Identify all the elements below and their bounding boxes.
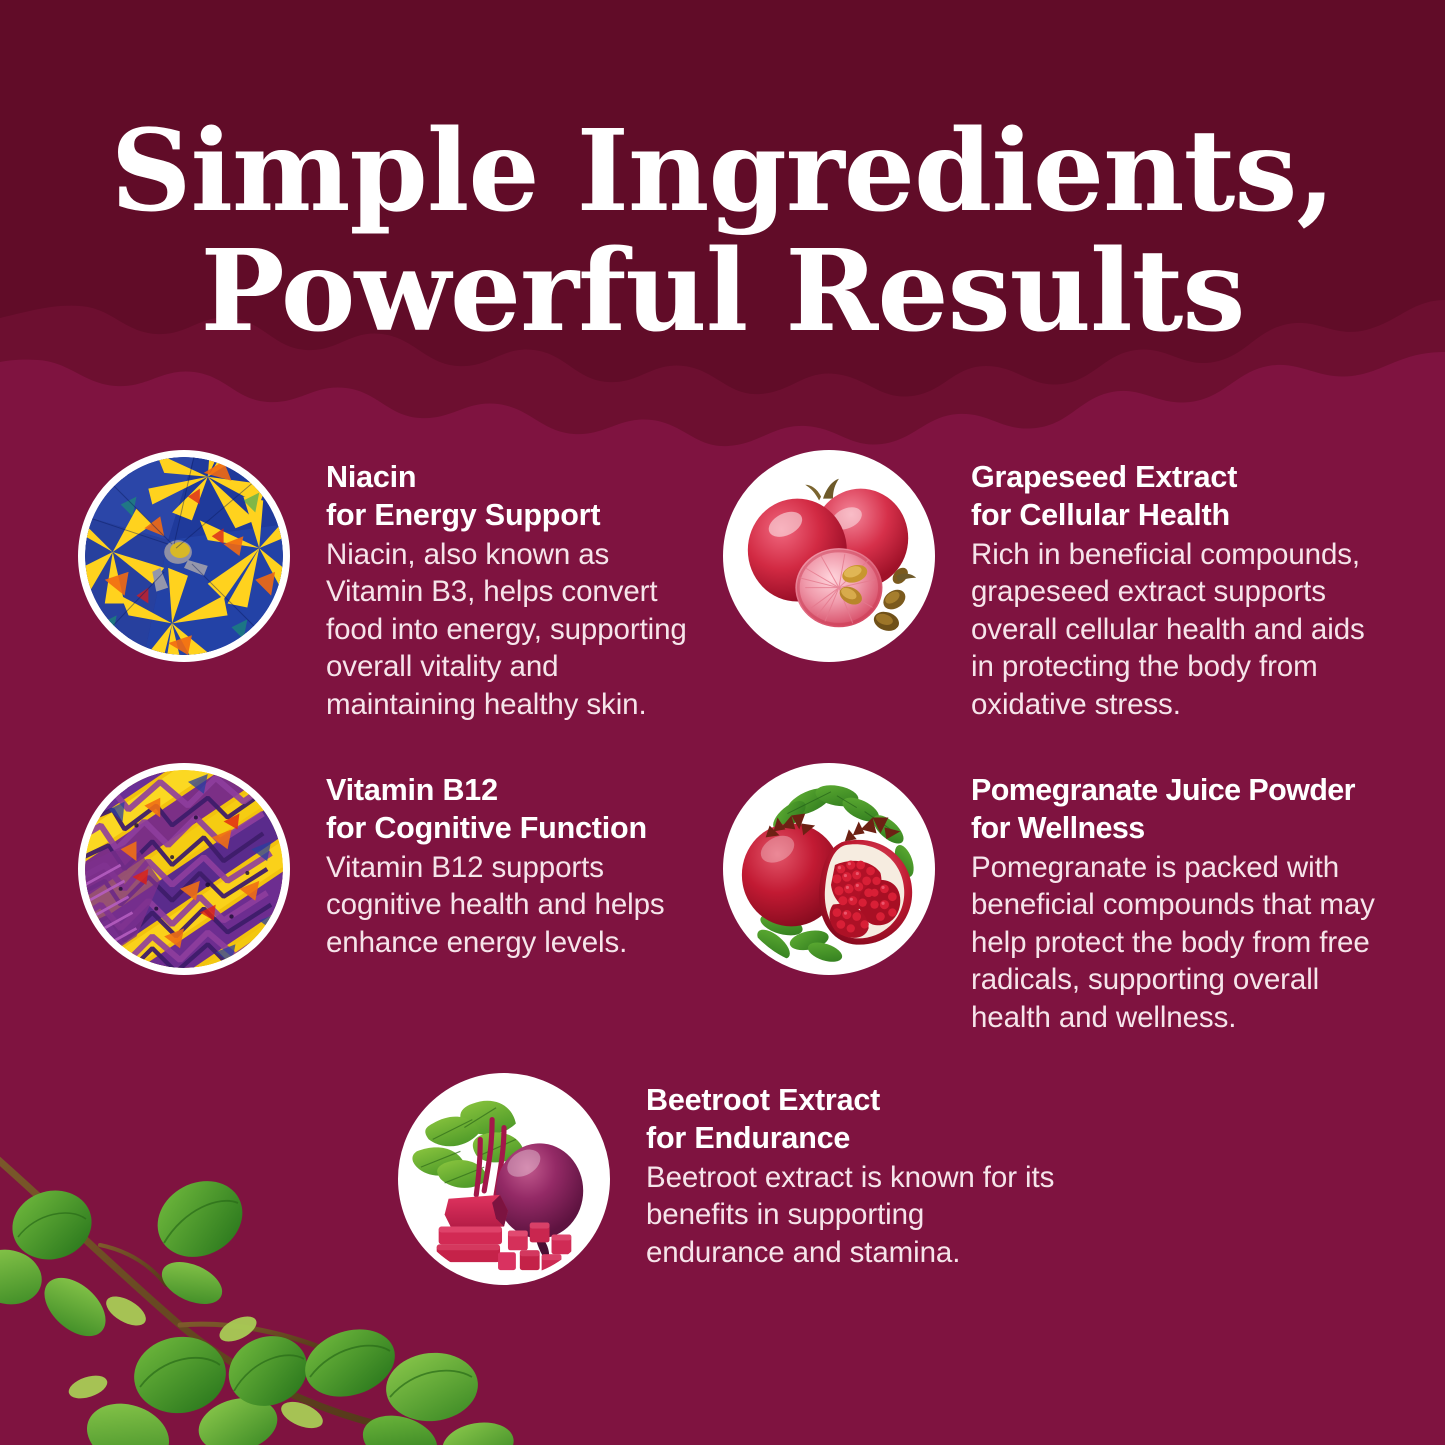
ingredient-title: Beetroot Extract for Endurance — [646, 1081, 1058, 1158]
ingredient-title: Niacin for Energy Support — [326, 458, 698, 535]
ingredient-title: Grapeseed Extract for Cellular Health — [971, 458, 1388, 535]
ingredient-infographic: Simple Ingredients, Powerful Results — [0, 0, 1445, 1445]
ingredient-grid: Niacin for Energy Support Niacin, also k… — [0, 0, 1445, 1445]
ingredient-item-beetroot-extract: Beetroot Extract for Endurance Beetroot … — [398, 1073, 1058, 1285]
ingredient-item-grapeseed-extract: Grapeseed Extract for Cellular Health Ri… — [723, 450, 1388, 723]
ingredient-item-pomegranate-juice-powder: Pomegranate Juice Powder for Wellness Po… — [723, 763, 1388, 1036]
ingredient-description: Rich in beneficial compounds, grapeseed … — [971, 536, 1388, 723]
ingredient-item-vitamin-b12: Vitamin B12 for Cognitive Function Vitam… — [78, 763, 698, 975]
red-grapes-photo-icon — [723, 450, 935, 662]
ingredient-item-niacin: Niacin for Energy Support Niacin, also k… — [78, 450, 698, 723]
ingredient-title: Vitamin B12 for Cognitive Function — [326, 771, 698, 848]
beetroot-photo-icon — [398, 1073, 610, 1285]
ingredient-description: Pomegranate is packed with beneficial co… — [971, 849, 1388, 1036]
niacin-crystal-micrograph-icon — [78, 450, 290, 662]
ingredient-description: Vitamin B12 supports cognitive health an… — [326, 849, 698, 961]
pomegranate-photo-icon — [723, 763, 935, 975]
vitamin-b12-crystal-micrograph-icon — [78, 763, 290, 975]
ingredient-title: Pomegranate Juice Powder for Wellness — [971, 771, 1388, 848]
ingredient-description: Beetroot extract is known for its benefi… — [646, 1159, 1058, 1271]
ingredient-description: Niacin, also known as Vitamin B3, helps … — [326, 536, 698, 723]
